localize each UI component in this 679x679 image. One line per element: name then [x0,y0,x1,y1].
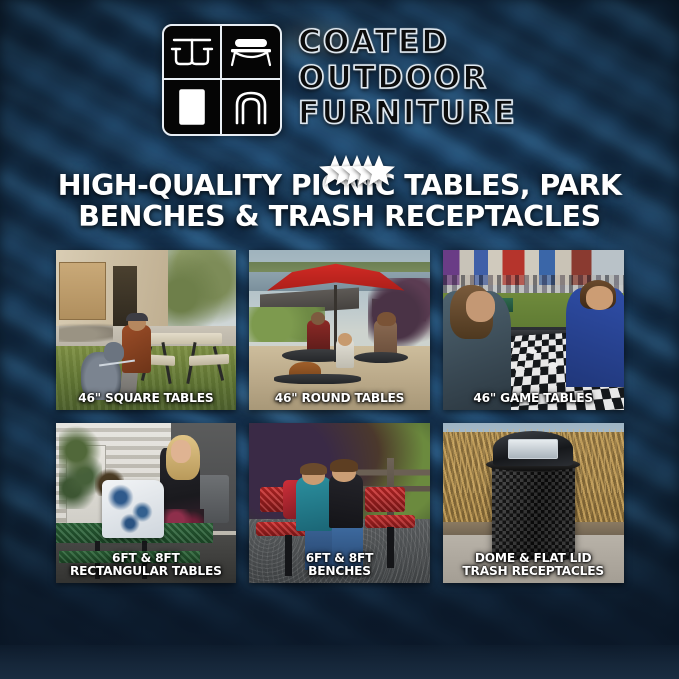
product-caption: 6FT & 8FT RECTANGULAR TABLES [56,552,237,578]
caption-line-2: RECTANGULAR TABLES [59,565,234,578]
product-tile-rectangular-tables[interactable]: 6FT & 8FT RECTANGULAR TABLES [56,423,237,583]
logo-mark [162,24,282,136]
product-photo-round-tables [249,250,430,410]
wordmark-line-2: OUTDOOR [298,61,517,96]
caption-line-1: 46" ROUND TABLES [252,392,427,405]
product-tile-square-tables[interactable]: 46" SQUARE TABLES [56,250,237,410]
product-caption: DOME & FLAT LID TRASH RECEPTACLES [443,552,624,578]
caption-line-1: 6FT & 8FT [252,552,427,565]
caption-line-2: BENCHES [252,565,427,578]
wordmark-line-3: FURNITURE [298,96,517,131]
bike-rack-icon [222,80,280,134]
product-caption: 46" ROUND TABLES [249,392,430,405]
product-caption: 6FT & 8FT BENCHES [249,552,430,578]
caption-line-2: TRASH RECEPTACLES [446,565,621,578]
wordmark-line-1: COATED [298,25,517,60]
headline-line-2: BENCHES & TRASH RECEPTACLES [20,201,660,232]
product-tile-trash-receptacles[interactable]: DOME & FLAT LID TRASH RECEPTACLES [443,423,624,583]
product-photo-square-tables [56,250,237,410]
brand-logo-lockup: COATED OUTDOOR FURNITURE [162,24,517,140]
product-category-grid: 46" SQUARE TABLES [56,250,624,583]
promo-banner: COATED OUTDOOR FURNITURE HIGH-QUALITY PI… [0,0,679,679]
product-tile-benches[interactable]: 6FT & 8FT BENCHES [249,423,430,583]
product-photo-game-tables [443,250,624,410]
park-bench-icon [222,26,280,80]
caption-line-1: DOME & FLAT LID [446,552,621,565]
product-tile-game-tables[interactable]: 46" GAME TABLES [443,250,624,410]
caption-line-1: 46" SQUARE TABLES [59,392,234,405]
product-tile-round-tables[interactable]: 46" ROUND TABLES [249,250,430,410]
product-caption: 46" GAME TABLES [443,392,624,405]
picnic-table-icon [164,26,222,80]
product-caption: 46" SQUARE TABLES [56,392,237,405]
brand-wordmark: COATED OUTDOOR FURNITURE [298,24,517,131]
trash-receptacle-icon [164,80,222,134]
caption-line-1: 6FT & 8FT [59,552,234,565]
caption-line-1: 46" GAME TABLES [446,392,621,405]
